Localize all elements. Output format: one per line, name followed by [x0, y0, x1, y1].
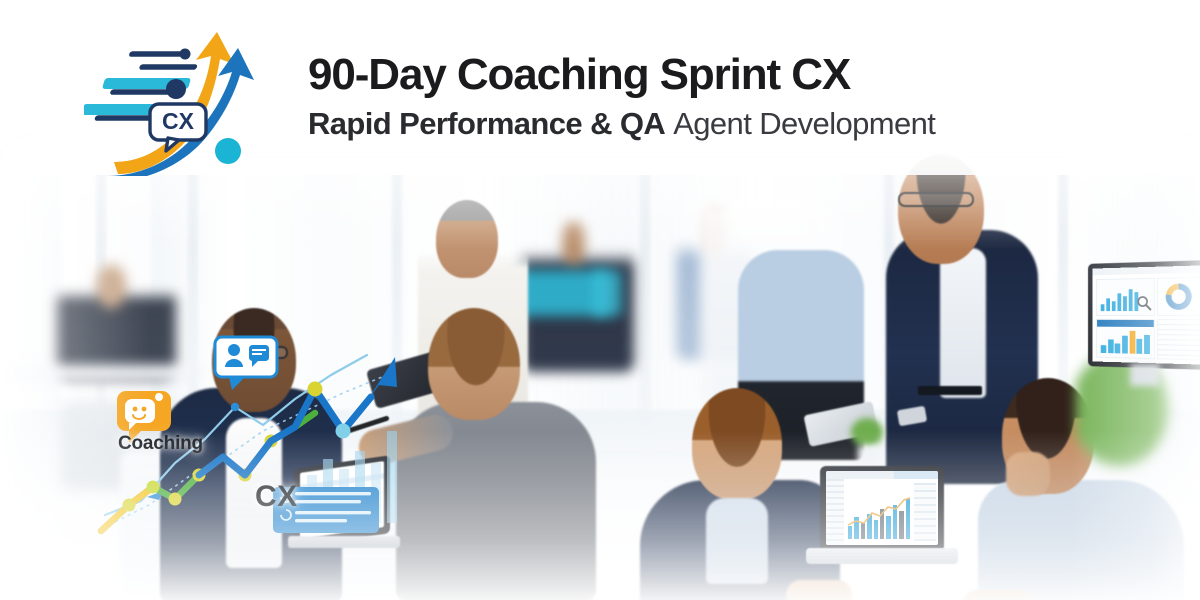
subtitle-part-mid: & QA [590, 106, 665, 141]
belt-icon [918, 386, 982, 395]
man-light-blue-shirt-seated [978, 480, 1184, 600]
page-subtitle: Rapid Performance & QA Agent Development [308, 107, 1168, 141]
shirt-light-blue-seated-left [706, 498, 768, 584]
dashboard-sidebar [826, 479, 844, 545]
head-woman-blue-shirt [774, 180, 840, 272]
hero-banner: Coaching CX [0, 0, 1200, 600]
banner-header: CX 90-Day Coaching Sprint CX Rapid Perfo… [0, 0, 1200, 175]
cx-sprint-logo: CX [84, 26, 294, 176]
hands-clasped-left [786, 580, 852, 600]
laptop-left-screen [300, 461, 384, 539]
head-man-navy-blazer [212, 308, 296, 412]
office-photo-scene: Coaching CX [0, 150, 1200, 600]
monitor-card-list [1157, 319, 1200, 360]
desk-blurred-left [0, 365, 200, 381]
magnifier-icon [1136, 295, 1151, 311]
donut-chart [1166, 283, 1192, 310]
subtitle-part-strong: Rapid Performance [308, 106, 582, 141]
laptop-left-base [288, 536, 400, 548]
cyan-dot [215, 138, 241, 164]
dashboard-trend-line [848, 495, 910, 535]
overlay-label-cx: CX [255, 480, 298, 514]
title-block: 90-Day Coaching Sprint CX Rapid Performa… [308, 52, 1168, 141]
overlay-label-coaching: Coaching [118, 433, 203, 455]
page-title: 90-Day Coaching Sprint CX [308, 52, 1168, 98]
glasses-icon [898, 192, 974, 207]
monitor-card-donut [1157, 277, 1200, 316]
monitor-stand [1130, 364, 1160, 386]
head-person-white-shirt [436, 200, 498, 278]
hands-clasped-right [962, 590, 1032, 600]
laptop-center-base [806, 548, 958, 564]
dashboard-right-panel [914, 483, 936, 541]
speed-line-dot [180, 49, 191, 60]
plant-pot [858, 446, 880, 466]
hand-on-chin [1006, 452, 1050, 496]
shirt-navy-suit-man [940, 248, 986, 398]
woman-desk-blurred-left [56, 260, 176, 380]
dashboard-topbar [826, 471, 938, 479]
monitor-right-screen [1093, 265, 1200, 364]
head-man-gray-suit [428, 308, 520, 420]
window-mullion [640, 150, 650, 450]
laptop-center-screen [826, 471, 938, 545]
glasses-icon [222, 346, 288, 359]
window-mullion [392, 150, 402, 450]
head-man-navy-jacket [692, 388, 782, 500]
monitor-card-bars-2 [1096, 319, 1155, 359]
speed-line-dot [166, 79, 186, 99]
subtitle-part-light: Agent Development [673, 106, 935, 141]
monitor-card-bars [1096, 278, 1155, 316]
logo-badge-text: CX [162, 108, 195, 134]
monitor-cyan-blurred [594, 270, 622, 316]
